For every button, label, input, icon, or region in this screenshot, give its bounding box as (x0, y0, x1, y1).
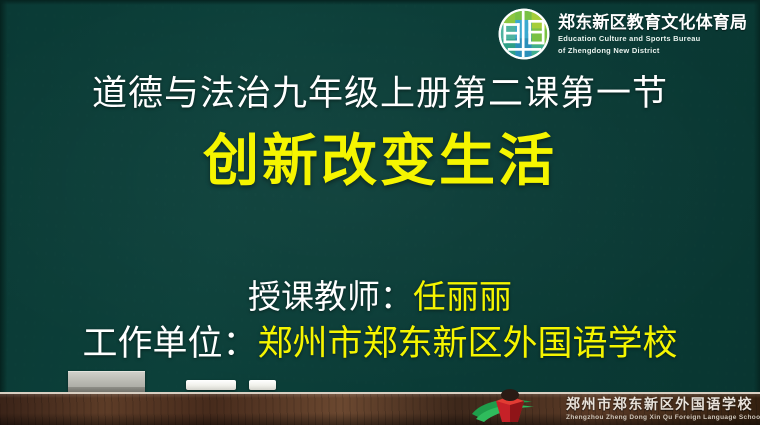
footer-school-wordmark: 郑州市郑东新区外国语学校 Zhengzhou Zheng Dong Xin Qu… (566, 392, 760, 425)
chalkboard-eraser (68, 371, 145, 393)
lesson-subject-line: 道德与法治九年级上册第二课第一节 (0, 73, 760, 115)
bureau-name-chinese: 郑东新区教育文化体育局 (558, 13, 747, 32)
education-bureau-wordmark: 郑东新区教育文化体育局 Education Culture and Sports… (558, 13, 747, 55)
footer-school-name-chinese: 郑州市郑东新区外国语学校 (566, 396, 760, 412)
bureau-name-english-line1: Education Culture and Sports Bureau (558, 34, 747, 44)
page-title: 创新改变生活 (0, 128, 760, 194)
footer-school-name-english: Zhengzhou Zheng Dong Xin Qu Foreign Lang… (566, 413, 760, 422)
school-credit: 工作单位：郑州市郑东新区外国语学校 (0, 323, 760, 365)
school-name: 郑州市郑东新区外国语学校 (258, 324, 678, 363)
school-emblem (462, 388, 558, 425)
teacher-credit: 授课教师：任丽丽 (0, 277, 760, 317)
presentation-slide: 郑东新区教育文化体育局 Education Culture and Sports… (0, 0, 760, 425)
education-bureau-logo: 郑东新区教育文化体育局 Education Culture and Sports… (497, 5, 755, 63)
chalk-stick-2 (249, 380, 276, 390)
teacher-name: 任丽丽 (413, 278, 512, 315)
bureau-name-english-line2: of Zhengdong New District (558, 46, 747, 56)
chalk-stick-1 (186, 380, 236, 390)
zhengdong-education-bureau-emblem-icon (497, 7, 551, 61)
teacher-label: 授课教师： (248, 278, 413, 315)
school-label: 工作单位： (82, 324, 257, 363)
foreign-language-school-emblem-icon (462, 388, 558, 425)
